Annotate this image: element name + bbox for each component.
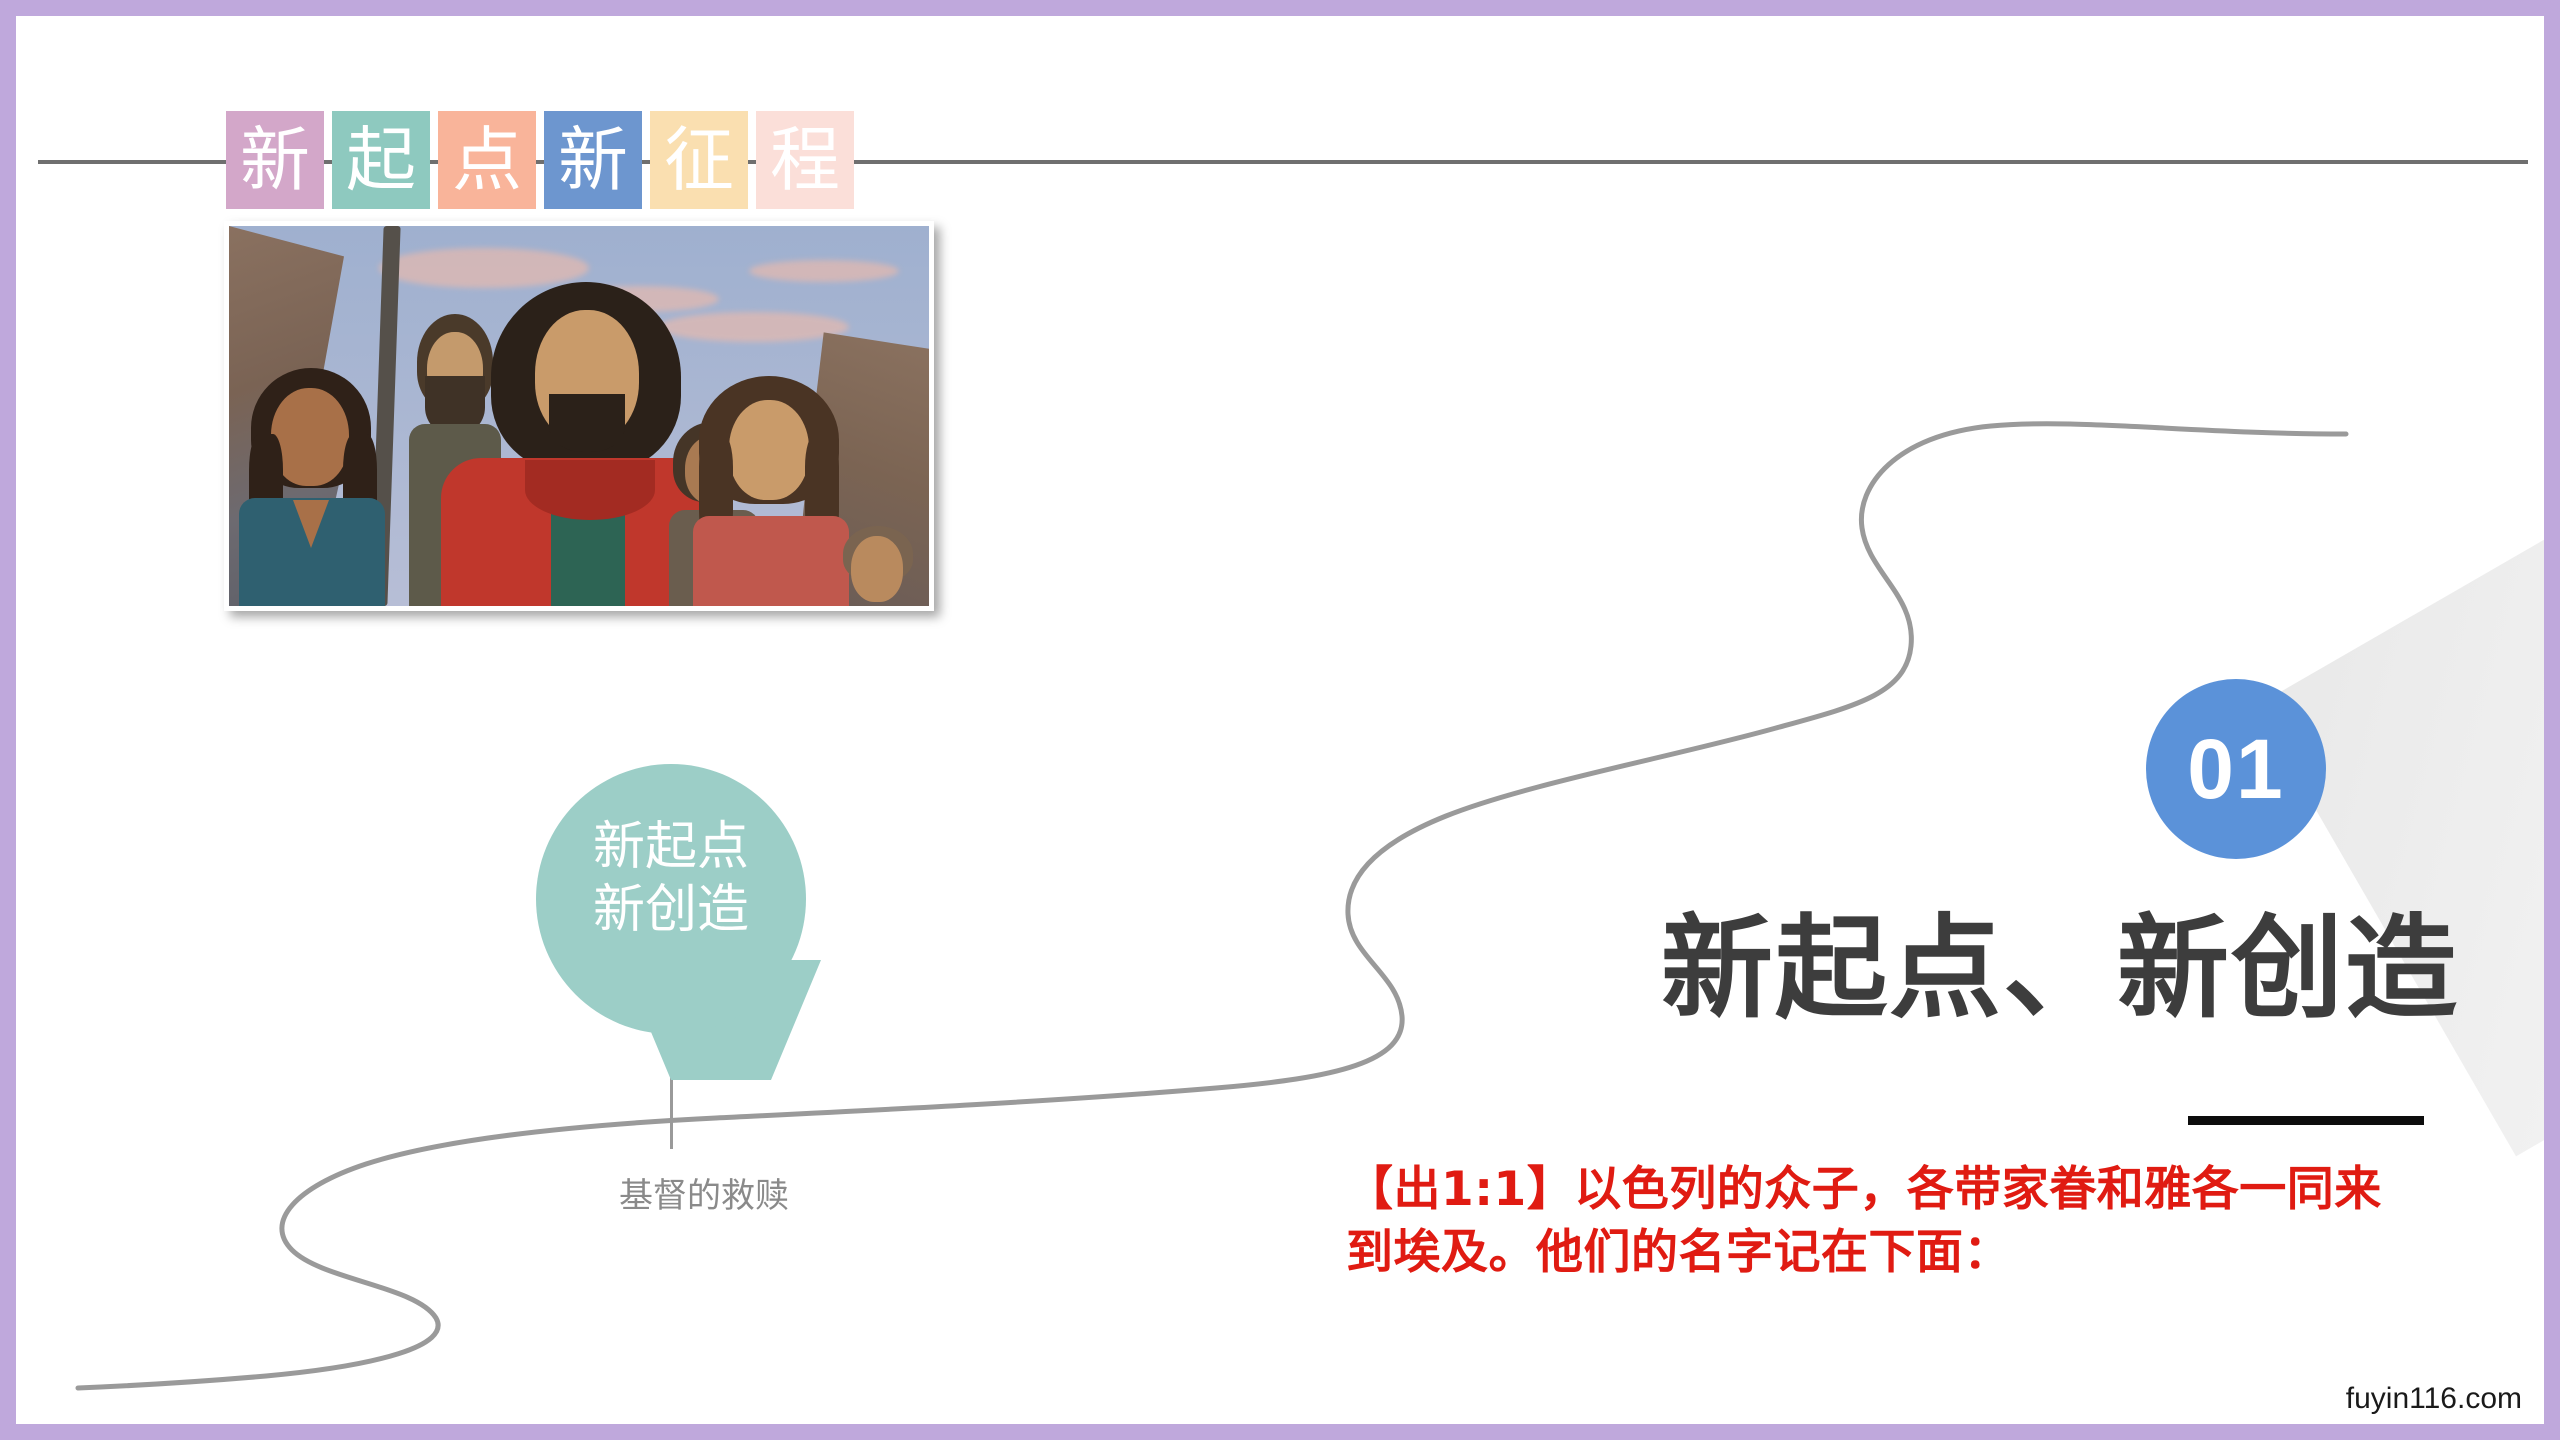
banner-tile-char-3: 新 xyxy=(558,125,628,195)
site-watermark: fuyin116.com xyxy=(2346,1382,2522,1416)
page-title: 新起点、新创造 xyxy=(1661,878,2459,1040)
section-number-badge: 01 xyxy=(2146,679,2326,859)
scripture-line-1: 【出1:1】以色列的众子，各带家眷和雅各一同来 xyxy=(1346,1159,2496,1222)
map-pin-line-2: 新创造 xyxy=(536,879,806,942)
photo-cloud xyxy=(659,312,849,342)
banner-tile-char-2: 点 xyxy=(452,125,522,195)
banner-tile-3: 新 xyxy=(544,111,642,209)
map-pin-line-1: 新起点 xyxy=(536,816,806,879)
photo-figure-far-right xyxy=(843,526,913,606)
scene-photo xyxy=(224,221,934,611)
slide-canvas: 新 起 点 新 征 程 xyxy=(16,16,2544,1424)
banner-tile-2: 点 xyxy=(438,111,536,209)
photo-figure-center-moses xyxy=(491,282,681,606)
scripture-text: 【出1:1】以色列的众子，各带家眷和雅各一同来 到埃及。他们的名字记在下面： xyxy=(1346,1159,2496,1284)
banner-tile-5: 程 xyxy=(756,111,854,209)
scene-photo-image xyxy=(229,226,929,606)
banner-tile-4: 征 xyxy=(650,111,748,209)
title-underline xyxy=(2188,1116,2424,1125)
banner-tile-char-1: 起 xyxy=(346,125,416,195)
banner-tile-1: 起 xyxy=(332,111,430,209)
banner-tiles: 新 起 点 新 征 程 xyxy=(226,111,854,209)
map-pin-text: 新起点 新创造 xyxy=(536,816,806,943)
map-pin-marker: 新起点 新创造 xyxy=(536,764,806,1084)
photo-figure-left-woman xyxy=(247,368,377,606)
photo-cloud xyxy=(749,260,899,282)
banner-tile-char-0: 新 xyxy=(240,125,310,195)
photo-figure-right-woman xyxy=(699,376,839,606)
scripture-line-2: 到埃及。他们的名字记在下面： xyxy=(1346,1222,2496,1285)
banner-tile-0: 新 xyxy=(226,111,324,209)
map-pin-caption: 基督的救赎 xyxy=(574,1168,834,1217)
banner-tile-char-5: 程 xyxy=(770,125,840,195)
banner-tile-char-4: 征 xyxy=(664,125,734,195)
